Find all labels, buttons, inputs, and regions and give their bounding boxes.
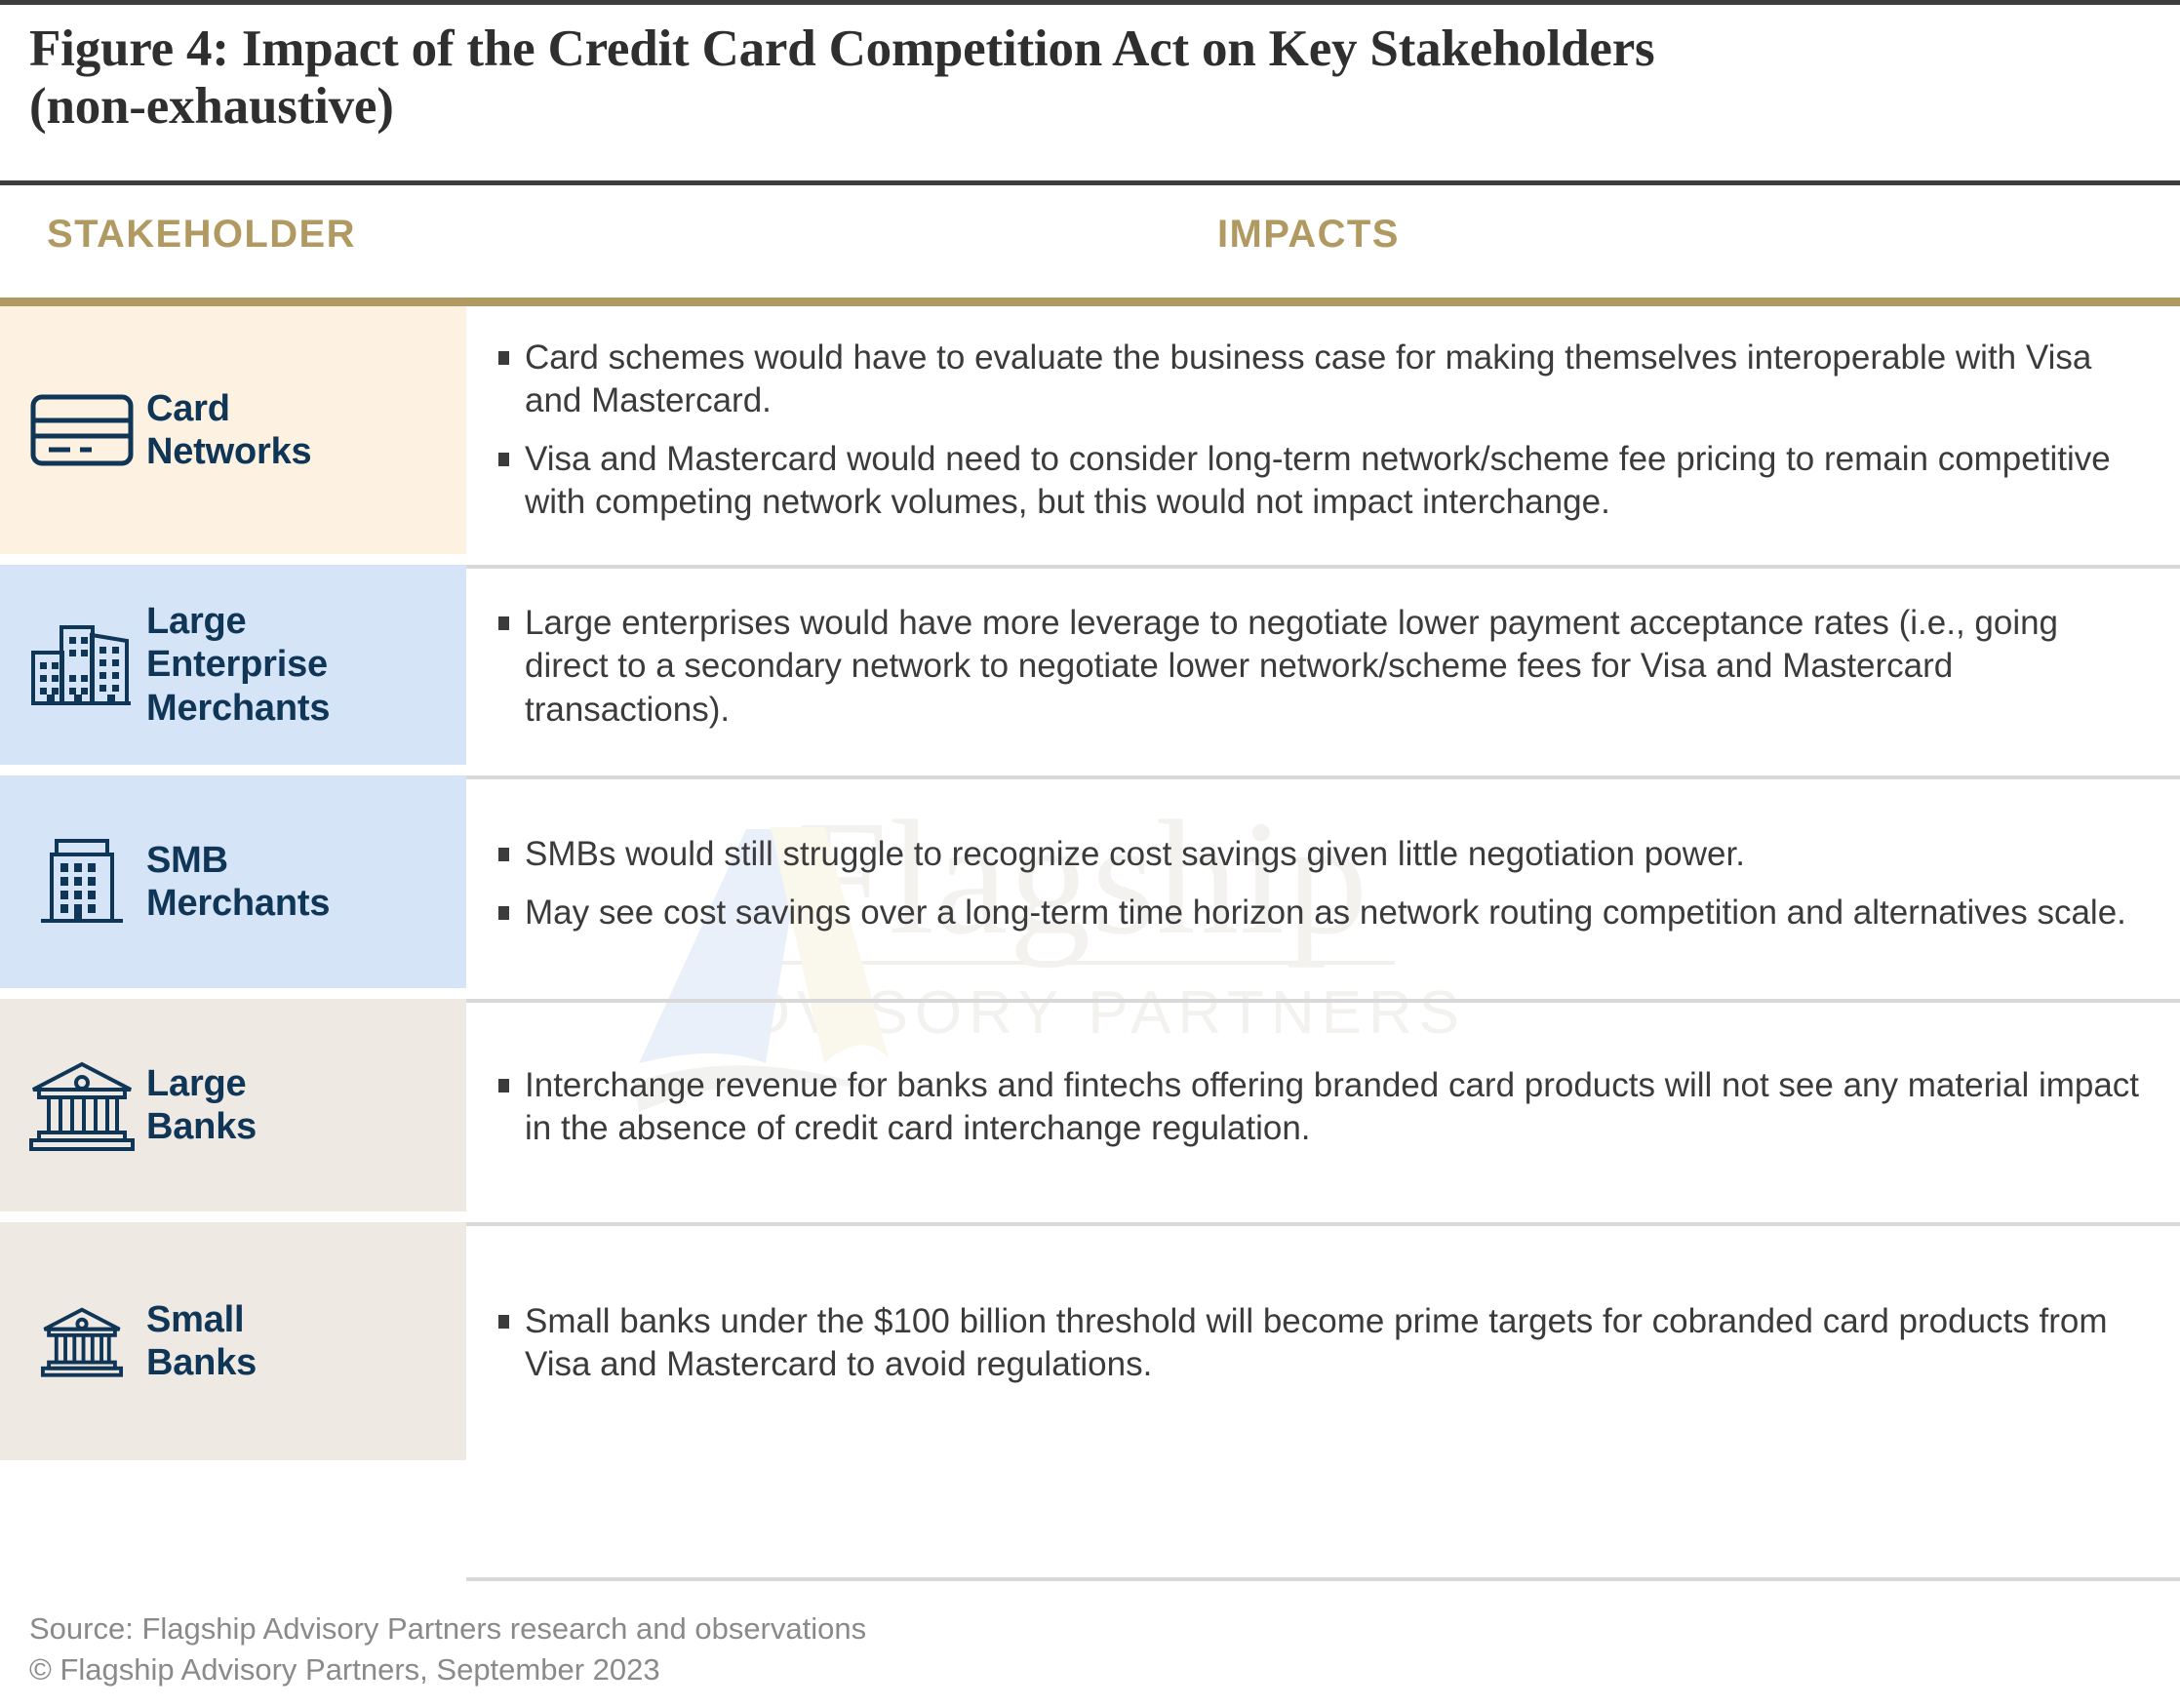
table-row: Small Banks Small banks under the $100 b…	[0, 1222, 2180, 1460]
bank-building-small-icon	[18, 1305, 146, 1377]
stakeholder-label-line-2: Banks	[146, 1341, 257, 1384]
table-bottom-rule	[466, 1577, 2180, 1581]
stakeholder-label: Small Banks	[146, 1298, 257, 1385]
stakeholder-cell-smb-merchants: SMB Merchants	[0, 775, 466, 988]
row-gap	[0, 1211, 2180, 1222]
stakeholder-cell-card-networks: Card Networks	[0, 306, 466, 554]
row-gap	[0, 765, 2180, 775]
bank-building-icon	[18, 1058, 146, 1152]
stakeholder-label-line-2: Banks	[146, 1105, 257, 1148]
stakeholder-label-line-2: Enterprise	[146, 643, 330, 686]
stakeholder-label-line-1: SMB	[146, 839, 330, 882]
stakeholder-cell-large-enterprise-merchants: Large Enterprise Merchants	[0, 565, 466, 765]
impacts-cell-small-banks: Small banks under the $100 billion thres…	[466, 1222, 2180, 1460]
impact-bullet: Visa and Mastercard would need to consid…	[495, 438, 2145, 524]
column-header-stakeholder: STAKEHOLDER	[47, 213, 356, 257]
table-row: SMB Merchants SMBs would still struggle …	[0, 775, 2180, 988]
impact-bullet-list: SMBs would still struggle to recognize c…	[495, 833, 2145, 934]
table-row: Large Banks Interchange revenue for bank…	[0, 999, 2180, 1211]
figure-title-line-1: Figure 4: Impact of the Credit Card Comp…	[29, 20, 2151, 78]
row-gap	[0, 554, 2180, 565]
impact-bullet-list: Interchange revenue for banks and fintec…	[495, 1064, 2145, 1150]
column-header-row: STAKEHOLDER IMPACTS	[0, 185, 2180, 298]
stakeholder-label: SMB Merchants	[146, 839, 330, 926]
table-row: Large Enterprise Merchants Large enterpr…	[0, 565, 2180, 765]
city-buildings-icon	[18, 621, 146, 709]
stakeholder-label: Card Networks	[146, 387, 311, 474]
footer-copyright: © Flagship Advisory Partners, September …	[29, 1649, 866, 1690]
impact-bullet: Card schemes would have to evaluate the …	[495, 337, 2145, 422]
figure-title-block: Figure 4: Impact of the Credit Card Comp…	[0, 0, 2180, 185]
column-header-impacts: IMPACTS	[1217, 213, 1400, 257]
header-divider-rule	[0, 298, 2180, 306]
impacts-cell-large-enterprise-merchants: Large enterprises would have more levera…	[466, 565, 2180, 765]
figure-footer: Source: Flagship Advisory Partners resea…	[29, 1609, 866, 1690]
stakeholder-cell-large-banks: Large Banks	[0, 999, 466, 1211]
stakeholder-label: Large Banks	[146, 1062, 257, 1149]
impact-bullet: May see cost savings over a long-term ti…	[495, 892, 2145, 934]
impacts-cell-large-banks: Interchange revenue for banks and fintec…	[466, 999, 2180, 1211]
impact-bullet-list: Small banks under the $100 billion thres…	[495, 1300, 2145, 1386]
impact-bullet-list: Large enterprises would have more levera…	[495, 602, 2145, 731]
stakeholder-label-line-1: Large	[146, 1062, 257, 1105]
table-row: Card Networks Card schemes would have to…	[0, 306, 2180, 554]
impact-bullet-list: Card schemes would have to evaluate the …	[495, 337, 2145, 524]
row-gap	[0, 988, 2180, 999]
office-building-icon	[18, 835, 146, 929]
stakeholder-label-line-3: Merchants	[146, 687, 330, 730]
stakeholder-label-line-2: Networks	[146, 430, 311, 473]
impacts-cell-card-networks: Card schemes would have to evaluate the …	[466, 306, 2180, 554]
stakeholder-impact-table: Card Networks Card schemes would have to…	[0, 306, 2180, 1460]
stakeholder-label-line-1: Large	[146, 600, 330, 643]
figure-title-line-2: (non-exhaustive)	[29, 78, 2151, 136]
impact-bullet: Interchange revenue for banks and fintec…	[495, 1064, 2145, 1150]
credit-card-icon	[18, 391, 146, 469]
stakeholder-cell-small-banks: Small Banks	[0, 1222, 466, 1460]
impact-bullet: SMBs would still struggle to recognize c…	[495, 833, 2145, 876]
impact-bullet: Small banks under the $100 billion thres…	[495, 1300, 2145, 1386]
footer-source: Source: Flagship Advisory Partners resea…	[29, 1609, 866, 1649]
impact-bullet: Large enterprises would have more levera…	[495, 602, 2145, 731]
impacts-cell-smb-merchants: SMBs would still struggle to recognize c…	[466, 775, 2180, 988]
stakeholder-label-line-2: Merchants	[146, 882, 330, 925]
stakeholder-label: Large Enterprise Merchants	[146, 600, 330, 730]
stakeholder-label-line-1: Small	[146, 1298, 257, 1341]
stakeholder-label-line-1: Card	[146, 387, 311, 430]
